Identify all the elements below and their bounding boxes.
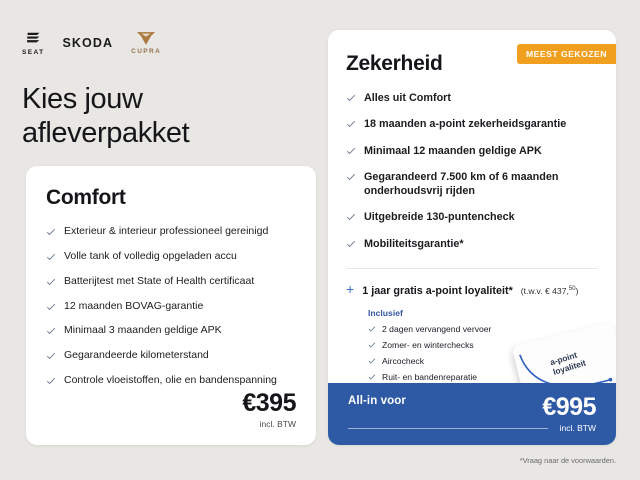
check-icon (46, 252, 56, 262)
promo-page: SEAT SKODA CUPRA Kies jouw afleverpakket… (0, 0, 640, 480)
brand-seat: SEAT (22, 30, 44, 56)
zekerheid-price-footer: All-in voor €995 incl. BTW (328, 383, 616, 445)
comfort-price: €395 (242, 389, 296, 418)
check-icon (346, 93, 356, 103)
list-item-label: Minimaal 3 maanden geldige APK (64, 324, 222, 338)
list-item: 18 maanden a-point zekerheidsgarantie (346, 117, 598, 131)
list-item-label: Minimaal 12 maanden geldige APK (364, 144, 542, 158)
list-item-label: Gegarandeerd 7.500 km of 6 maanden onder… (364, 170, 598, 199)
list-item-label: Alles uit Comfort (364, 91, 451, 105)
check-icon (346, 212, 356, 222)
list-item-label: Batterijtest met State of Health certifi… (64, 275, 254, 289)
list-item-label: Zomer- en winterchecks (382, 340, 474, 350)
check-icon (368, 373, 376, 381)
allin-label: All-in voor (348, 395, 406, 407)
list-item: Minimaal 3 maanden geldige APK (46, 324, 296, 338)
brand-logo-bar: SEAT SKODA CUPRA (22, 30, 161, 56)
list-item: Exterieur & interieur professioneel gere… (46, 225, 296, 239)
allin-price-block: €995 incl. BTW (542, 395, 596, 433)
seat-logo-icon (25, 30, 42, 47)
brand-cupra: CUPRA (131, 31, 161, 55)
loyalty-worth: (t.w.v. € 437,50) (521, 286, 579, 296)
list-item-label: Gegarandeerde kilometerstand (64, 349, 209, 363)
zekerheid-feature-list: Alles uit Comfort 18 maanden a-point zek… (346, 91, 598, 251)
list-item: Batterijtest met State of Health certifi… (46, 275, 296, 289)
comfort-feature-list: Exterieur & interieur professioneel gere… (46, 225, 296, 388)
plus-icon: + (346, 282, 354, 296)
list-item-label: Uitgebreide 130-puntencheck (364, 210, 515, 224)
check-icon (46, 376, 56, 386)
allin-price: €995 (542, 393, 596, 421)
list-item-label: Volle tank of volledig opgeladen accu (64, 250, 237, 264)
package-card-zekerheid[interactable]: MEEST GEKOZEN Zekerheid Alles uit Comfor… (328, 30, 616, 445)
cupra-logo-icon (136, 31, 156, 46)
check-icon (346, 239, 356, 249)
list-item: Gegarandeerde kilometerstand (46, 349, 296, 363)
list-item-label: 2 dagen vervangend vervoer (382, 324, 491, 334)
brand-cupra-label: CUPRA (131, 48, 161, 55)
package-card-comfort[interactable]: Comfort Exterieur & interieur profession… (26, 166, 316, 445)
list-item: Minimaal 12 maanden geldige APK (346, 144, 598, 158)
check-icon (346, 119, 356, 129)
list-item-label: 12 maanden BOVAG-garantie (64, 300, 203, 314)
check-icon (368, 341, 376, 349)
list-item: Volle tank of volledig opgeladen accu (46, 250, 296, 264)
comfort-price-note: incl. BTW (242, 419, 296, 429)
brand-skoda-label: SKODA (62, 36, 113, 50)
check-icon (368, 357, 376, 365)
list-item: Gegarandeerd 7.500 km of 6 maanden onder… (346, 170, 598, 199)
list-item-label: Ruit- en bandenreparatie (382, 372, 477, 382)
list-item: 2 dagen vervangend vervoer (368, 324, 598, 334)
list-item: Controle vloeistoffen, olie en bandenspa… (46, 374, 296, 388)
list-item: Uitgebreide 130-puntencheck (346, 210, 598, 224)
status-badge: MEEST GEKOZEN (517, 44, 616, 64)
check-icon (346, 146, 356, 156)
list-item: 12 maanden BOVAG-garantie (46, 300, 296, 314)
check-icon (46, 351, 56, 361)
allin-price-note: incl. BTW (542, 423, 596, 433)
check-icon (346, 172, 356, 182)
footnote: *Vraag naar de voorwaarden. (520, 456, 616, 465)
comfort-price-block: €395 incl. BTW (242, 389, 296, 429)
divider (348, 428, 548, 429)
check-icon (46, 277, 56, 287)
list-item-label: Aircocheck (382, 356, 424, 366)
list-item-label: Controle vloeistoffen, olie en bandenspa… (64, 374, 277, 388)
list-item-label: Exterieur & interieur professioneel gere… (64, 225, 268, 239)
comfort-title: Comfort (46, 186, 296, 210)
brand-seat-label: SEAT (22, 49, 44, 56)
loyalty-highlight: + 1 jaar gratis a-point loyaliteit* (t.w… (346, 268, 598, 297)
brand-skoda: SKODA (62, 36, 113, 50)
list-item: Alles uit Comfort (346, 91, 598, 105)
check-icon (46, 302, 56, 312)
list-item-label: Mobiliteitsgarantie* (364, 237, 464, 251)
inclusief-label: Inclusief (368, 308, 598, 318)
page-title: Kies jouw afleverpakket (22, 82, 292, 150)
check-icon (368, 325, 376, 333)
check-icon (46, 227, 56, 237)
list-item: Mobiliteitsgarantie* (346, 237, 598, 251)
list-item-label: 18 maanden a-point zekerheidsgarantie (364, 117, 566, 131)
loyalty-title: 1 jaar gratis a-point loyaliteit* (362, 285, 513, 297)
check-icon (46, 326, 56, 336)
